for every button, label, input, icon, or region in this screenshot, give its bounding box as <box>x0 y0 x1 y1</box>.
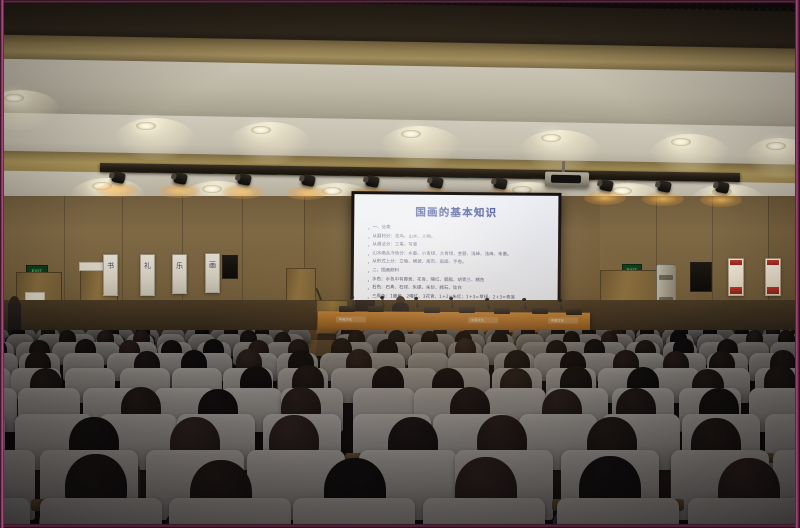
auditorium-seat <box>169 498 291 528</box>
slide-bullet-text: 山水画从冷色分：水墨、小青绿、大青绿、金碧、浅绛、浅绛、朱墨。 <box>372 251 511 259</box>
slide-bullet-text: 一、分类 <box>373 225 391 232</box>
slide-bullet-text: 从形式上分：立轴、横披、册页、扇面、手卷。 <box>372 260 466 267</box>
banner-glyph: 画 <box>206 260 219 270</box>
lecture-hall-photo: EXIT 书 礼 乐 画 EXIT 国画的基本知识 ▪一、分类▪从题材分：花鸟、… <box>0 0 800 528</box>
wall-banner-left-3: 乐 <box>172 254 187 294</box>
banner-glyph: 礼 <box>141 261 154 271</box>
bullet-icon: ▪ <box>368 260 369 267</box>
slide-bullet-text: 从画法分：工笔、写意 <box>372 242 417 249</box>
bullet-icon: ▪ <box>368 268 369 275</box>
wall-speaker-right <box>690 262 712 292</box>
slide-bullet-line: ▪从形式上分：立轴、横披、册页、扇面、手卷。 <box>368 260 550 269</box>
wall-banner-right-1 <box>728 258 744 296</box>
bullet-icon: ▪ <box>368 234 369 241</box>
slide-bullet-line: ▪一、分类 <box>368 225 550 234</box>
spotlight-glow <box>286 186 328 200</box>
auditorium-seat <box>688 498 800 528</box>
slide-body: ▪一、分类▪从题材分：花鸟、山水、人物。▪从画法分：工笔、写意▪山水画从冷色分：… <box>367 225 550 304</box>
wall-banner-right-2 <box>765 258 781 296</box>
auditorium-seat <box>40 498 162 528</box>
table-nameplate-text: 中国文化 <box>339 317 352 321</box>
table-nameplate: 中国文化 <box>548 317 578 323</box>
spotlight-glow <box>158 184 200 198</box>
ceiling-downlight <box>136 122 156 130</box>
bullet-icon: ▪ <box>368 242 369 249</box>
ceiling-downlight <box>4 94 24 102</box>
ceiling-downlight <box>202 185 222 193</box>
standing-attendant-head <box>10 296 19 305</box>
slide-bullet-line: ▪从题材分：花鸟、山水、人物。 <box>368 234 550 243</box>
projector-lens <box>551 175 581 184</box>
spotlight-glow <box>642 192 684 206</box>
ceiling-downlight <box>251 126 271 134</box>
ac-vent <box>659 275 673 280</box>
banner-foot <box>767 287 779 293</box>
auditorium-seat <box>0 498 30 528</box>
bullet-icon: ▪ <box>368 285 369 292</box>
banner-foot <box>730 287 742 293</box>
table-card <box>566 309 582 315</box>
spotlight-glow <box>96 183 138 197</box>
wall-speaker-left <box>222 255 238 279</box>
slide-bullet-line: ▪石色：石青、石绿、朱磦、朱砂、赭石、钛白 <box>368 285 550 294</box>
ceiling-downlight <box>766 142 786 150</box>
slide-title: 国画的基本知识 <box>354 204 558 221</box>
slide-bullet-line: ▪从画法分：工笔、写意 <box>368 242 550 251</box>
table-nameplate-text: 中国文化 <box>551 319 564 323</box>
table-card <box>424 307 440 313</box>
projection-screen: 国画的基本知识 ▪一、分类▪从题材分：花鸟、山水、人物。▪从画法分：工笔、写意▪… <box>354 194 559 304</box>
banner-cap <box>767 260 779 265</box>
table-nameplate: 中国文化 <box>336 316 366 322</box>
table-card <box>532 308 548 314</box>
wall-sign-left <box>79 262 105 271</box>
table-card <box>368 306 384 312</box>
spotlight-glow <box>584 191 626 205</box>
wall-banner-left-2: 礼 <box>140 254 155 296</box>
banner-glyph: 书 <box>104 261 117 271</box>
slide-bullet-text: 二、国画颜料 <box>372 268 399 275</box>
spotlight-glow <box>700 193 742 207</box>
slide-bullet-line: ▪水色：水色中有藤黄、花青、曙红、胭脂、胡青三、赭色 <box>368 277 550 286</box>
ceiling-downlight <box>541 134 561 142</box>
slide-bullet-text: 石色：石青、石绿、朱磦、朱砂、赭石、钛白 <box>372 285 462 292</box>
auditorium-seat <box>423 498 545 528</box>
bullet-icon: ▪ <box>368 277 369 284</box>
slide-bullet-text: 从题材分：花鸟、山水、人物。 <box>372 234 435 241</box>
wall-banner-left-4: 画 <box>205 253 220 293</box>
table-card <box>494 308 510 314</box>
bullet-icon: ▪ <box>368 225 369 232</box>
auditorium-seat <box>293 498 415 528</box>
bullet-icon: ▪ <box>368 251 369 258</box>
banner-glyph: 乐 <box>173 261 186 271</box>
audience-seating <box>0 330 800 528</box>
slide-bullet-text: 水色：水色中有藤黄、花青、曙红、胭脂、胡青三、赭色 <box>372 277 484 285</box>
auditorium-seat <box>557 498 679 528</box>
table-card <box>459 307 475 313</box>
ceiling-downlight <box>671 138 691 146</box>
ceiling-projector <box>545 172 589 188</box>
banner-cap <box>730 260 742 265</box>
table-nameplate-text: 中国文化 <box>471 318 484 322</box>
slide-bullet-line: ▪二、国画颜料 <box>368 268 550 277</box>
ceiling-downlight <box>401 130 421 138</box>
spotlight-glow <box>222 185 264 199</box>
wall-banner-left-1: 书 <box>103 254 118 296</box>
slide-bullet-line: ▪山水画从冷色分：水墨、小青绿、大青绿、金碧、浅绛、浅绛、朱墨。 <box>368 251 550 260</box>
table-nameplate: 中国文化 <box>468 317 498 323</box>
